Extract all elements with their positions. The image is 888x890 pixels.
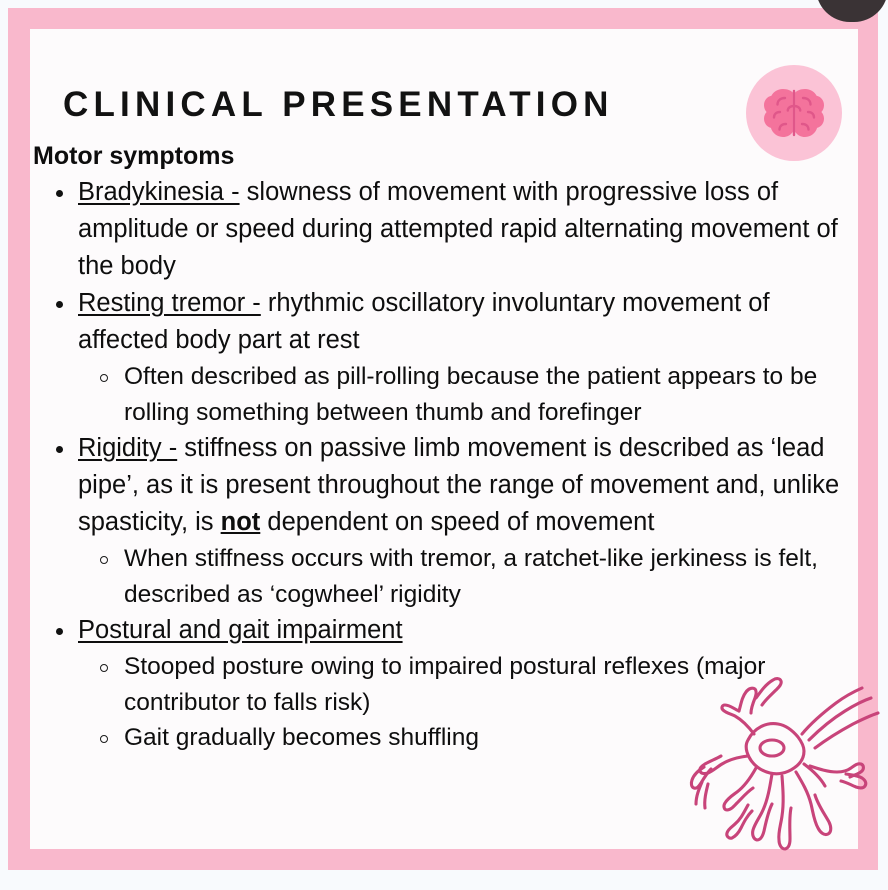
list-item-term: Postural and gait impairment (78, 616, 403, 644)
list-item-bradykinesia: Bradykinesia - slowness of movement with… (30, 174, 858, 285)
list-item-resting-tremor: Resting tremor - rhythmic oscillatory in… (30, 285, 858, 430)
list-item-text-after: dependent on speed of movement (260, 508, 654, 536)
emphasis-not: not (221, 508, 261, 536)
list-item-term: Bradykinesia - (78, 178, 240, 206)
sub-list-item-text: Stooped posture owing to impaired postur… (124, 653, 765, 716)
list-item-postural-gait: Postural and gait impairment Stooped pos… (30, 612, 858, 756)
slide-content: Motor symptoms Bradykinesia - slowness o… (30, 141, 858, 756)
sub-list-item-text: When stiffness occurs with tremor, a rat… (124, 545, 818, 608)
sub-list-item: Stooped posture owing to impaired postur… (78, 649, 858, 720)
slide-canvas: CLINICAL PRESENTATION Motor symptoms Bra… (30, 29, 858, 849)
hollow-bullet-icon (100, 664, 108, 672)
page-title: CLINICAL PRESENTATION (63, 85, 614, 125)
bullet-icon (56, 190, 63, 197)
sub-list: When stiffness occurs with tremor, a rat… (78, 541, 858, 612)
bullet-icon (56, 628, 63, 635)
sub-list-item: Gait gradually becomes shuffling (78, 720, 858, 756)
hollow-bullet-icon (100, 374, 108, 382)
sub-list: Stooped posture owing to impaired postur… (78, 649, 858, 756)
motor-symptoms-list: Bradykinesia - slowness of movement with… (30, 174, 858, 755)
sub-list-item: Often described as pill-rolling because … (78, 359, 858, 430)
sub-list: Often described as pill-rolling because … (78, 359, 858, 430)
section-heading: Motor symptoms (30, 141, 858, 172)
slide-pink-frame: CLINICAL PRESENTATION Motor symptoms Bra… (8, 8, 878, 870)
list-item-term: Resting tremor - (78, 289, 261, 317)
sub-list-item-text: Gait gradually becomes shuffling (124, 724, 479, 751)
sub-list-item-text: Often described as pill-rolling because … (124, 363, 817, 426)
hollow-bullet-icon (100, 556, 108, 564)
list-item-rigidity: Rigidity - stiffness on passive limb mov… (30, 430, 858, 612)
sub-list-item: When stiffness occurs with tremor, a rat… (78, 541, 858, 612)
list-item-term: Rigidity - (78, 434, 177, 462)
hollow-bullet-icon (100, 735, 108, 743)
bullet-icon (56, 301, 63, 308)
bullet-icon (56, 446, 63, 453)
